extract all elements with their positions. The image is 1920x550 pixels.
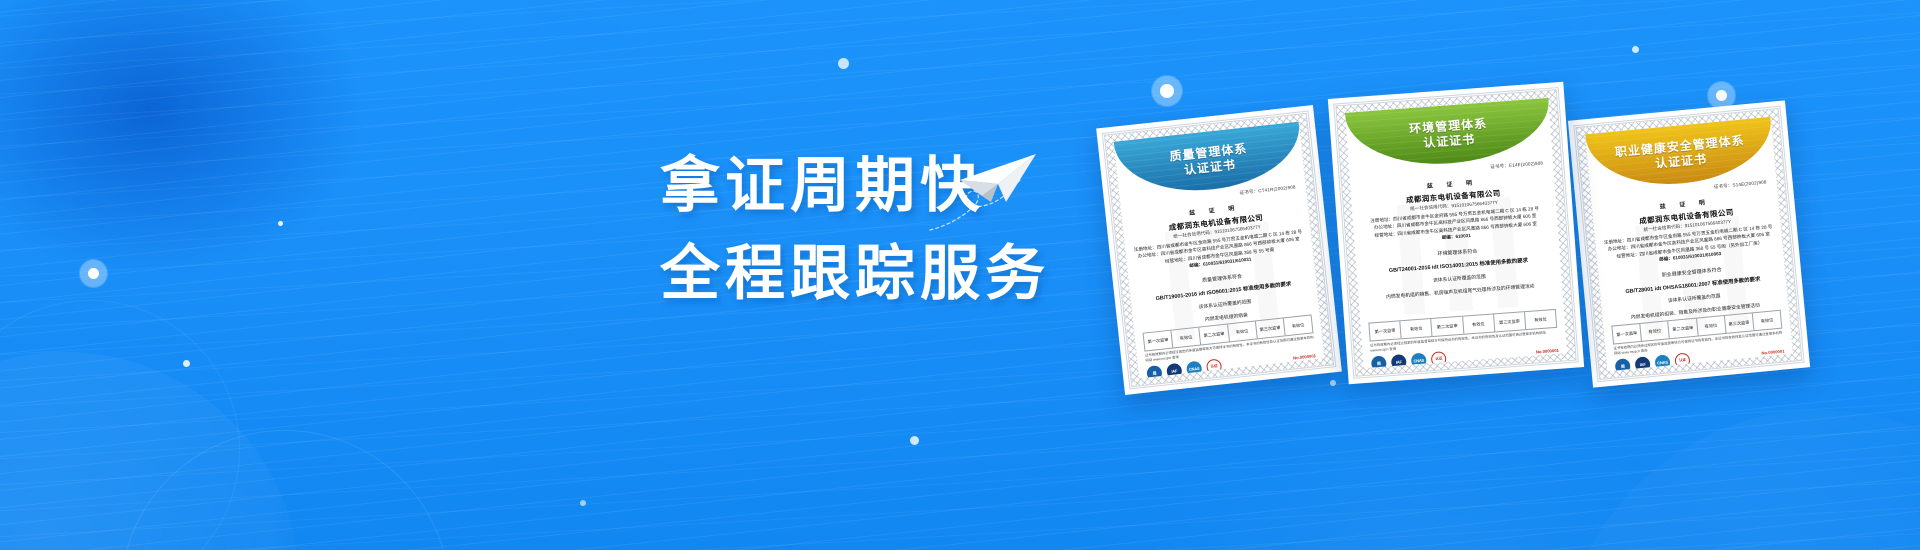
certificate-page: 质量管理体系 认证证书 证书号：CT41R(2002)908 兹 证 明 成都润… <box>1114 122 1325 379</box>
certificate-border: 职业健康安全管理体系 认证证书 证书号：S14E(2002)908 兹 证 明 … <box>1573 106 1804 382</box>
certificate-number: 证书号：CT41R(2002)908 <box>1239 184 1296 196</box>
audit-cell: 第三次监审 <box>1494 312 1526 331</box>
audit-cell: 第二次监审 <box>1432 317 1464 336</box>
certificate-page: 职业健康安全管理体系 认证证书 证书号：S14E(2002)908 兹 证 明 … <box>1585 117 1793 371</box>
decorative-dot <box>183 360 190 367</box>
certificate-serial: No.0000001 <box>1536 348 1559 355</box>
certificate-title-line1: 质量管理体系 <box>1169 141 1248 164</box>
certificate-title-line1: 职业健康安全管理体系 <box>1614 133 1745 160</box>
decorative-dot <box>838 58 849 69</box>
certificate-number-label: 证书号： <box>1714 183 1733 190</box>
decorative-dot <box>580 500 586 506</box>
audit-cell: 有效位 <box>1400 319 1432 338</box>
certificate-number-label: 证书号： <box>1490 163 1509 169</box>
certificate-title-line2: 认证证书 <box>1655 152 1708 172</box>
certificate-number-value: S14E(2002)908 <box>1732 179 1766 187</box>
audit-cell: 第三次监审 <box>1725 313 1755 333</box>
seal-icon-iaf: IAF <box>1391 354 1407 368</box>
audit-cell: 第三次监审 <box>1256 318 1286 338</box>
certificate-postcode: 邮编：610031 <box>1442 233 1471 240</box>
decorative-dot <box>910 436 919 445</box>
seal-icon-cnas: CNAS <box>1411 353 1427 369</box>
seal-icon-red-stamp: 认证 <box>1674 352 1690 368</box>
certificate-border: 环境管理体系 认证证书 证书号：E14E(2002)908 兹 证 明 成都润东… <box>1333 87 1579 379</box>
audit-cell: 有效位 <box>1463 314 1495 333</box>
decorative-circle-outline <box>120 430 450 550</box>
audit-cell: 有效位 <box>1753 311 1782 330</box>
certificate-number: 证书号：E14E(2002)908 <box>1490 160 1543 170</box>
headline-line-2: 全程跟踪服务 <box>660 230 1050 318</box>
certificate-number-value: E14E(2002)908 <box>1509 160 1543 167</box>
certificate-header-environment: 环境管理体系 认证证书 <box>1345 98 1553 171</box>
audit-cell: 有效位 <box>1228 321 1258 341</box>
audit-cell: 第一次监审 <box>1612 324 1642 344</box>
certificate-group: 质量管理体系 认证证书 证书号：CT41R(2002)908 兹 证 明 成都润… <box>1110 80 1920 390</box>
audit-cell: 有效位 <box>1697 316 1727 336</box>
seal-icon-authority: 周 <box>1371 355 1387 368</box>
audit-cell: 第二次监审 <box>1200 325 1230 345</box>
certificate-number-value: CT41R(2002)908 <box>1258 184 1296 193</box>
decorative-dot-halo <box>88 268 99 279</box>
audit-cell: 有效位 <box>1284 315 1313 335</box>
certificate-card-occupational-health[interactable]: 职业健康安全管理体系 认证证书 证书号：S14E(2002)908 兹 证 明 … <box>1568 100 1810 387</box>
certificate-page: 环境管理体系 认证证书 证书号：E14E(2002)908 兹 证 明 成都润东… <box>1345 98 1567 368</box>
seal-icon-authority: 周 <box>1146 365 1163 378</box>
certificate-title-line2: 认证证书 <box>1183 158 1236 179</box>
audit-cell: 有效位 <box>1525 310 1556 329</box>
decorative-circle-outline-small <box>0 300 240 550</box>
audit-cell: 第一次监审 <box>1144 331 1174 351</box>
certificate-title-line1: 环境管理体系 <box>1409 116 1488 137</box>
audit-cell: 有效位 <box>1640 321 1670 341</box>
seal-icon-authority: 周 <box>1615 358 1631 371</box>
certificate-number: 证书号：S14E(2002)908 <box>1714 179 1767 190</box>
certificate-border: 质量管理体系 认证证书 证书号：CT41R(2002)908 兹 证 明 成都润… <box>1102 111 1337 390</box>
promo-banner: 拿证周期快 全程跟踪服务 质量管理体系 认证证书 证书号：CT41R(20 <box>0 0 1920 550</box>
certificate-title-line2: 认证证书 <box>1423 132 1476 151</box>
decorative-dot <box>1632 46 1639 53</box>
paper-plane-icon <box>958 150 1038 210</box>
audit-cell: 第二次监审 <box>1669 319 1699 339</box>
certificate-card-environment[interactable]: 环境管理体系 认证证书 证书号：E14E(2002)908 兹 证 明 成都润东… <box>1328 82 1584 385</box>
seal-icon-cnas: CNAS <box>1654 354 1670 370</box>
audit-cell: 第一次监审 <box>1369 321 1401 340</box>
decorative-dot <box>278 221 283 226</box>
seal-icon-iaf: IAF <box>1634 356 1650 371</box>
seal-icon-iaf: IAF <box>1166 363 1183 379</box>
seal-icon-red-stamp: 认证 <box>1431 351 1447 367</box>
decorative-circle-large <box>0 352 300 550</box>
certificate-card-quality[interactable]: 质量管理体系 认证证书 证书号：CT41R(2002)908 兹 证 明 成都润… <box>1096 105 1342 395</box>
audit-cell: 有效位 <box>1172 328 1202 348</box>
seal-icon-cnas: CNAS <box>1186 361 1203 378</box>
seal-icon-red-stamp: 认证 <box>1206 358 1223 375</box>
certificate-serial: No.0000001 <box>1761 348 1784 355</box>
decorative-circle-right <box>1560 410 1920 550</box>
certificate-serial: No.0000001 <box>1293 353 1316 360</box>
certificate-number-label: 证书号： <box>1239 188 1258 195</box>
